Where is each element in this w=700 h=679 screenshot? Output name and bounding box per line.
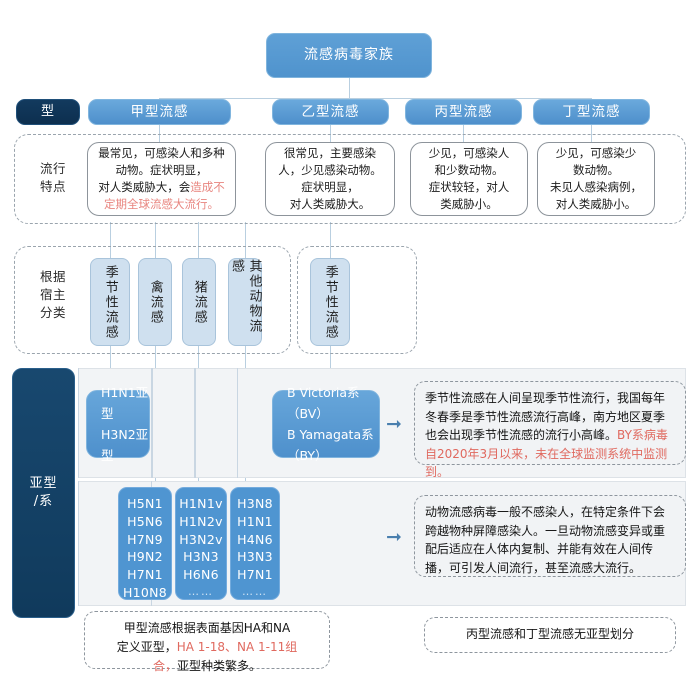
type-node-influenza-c-label: 丙型流感 xyxy=(435,104,493,121)
host-box-seasonal-b-label: 季节性流感 xyxy=(321,265,339,340)
avian-item-3: H9N2 xyxy=(119,548,171,566)
other-item-1: H1N1 xyxy=(231,513,279,531)
host-box-avian[interactable]: 禽流感 xyxy=(138,258,172,346)
row-label-host: 根据 宿主 分类 xyxy=(24,268,82,322)
feature-card-influenza-a: 最常见，可感染人和多种 动物。症状明显， 对人类威胁大，会造成不 定期全球流感大… xyxy=(87,142,236,216)
feature-a-line2: 动物。症状明显， xyxy=(98,162,225,179)
callout-animal: 动物流感病毒一般不感染人，在特定条件下会跨越物种屏障感染人。一旦动物流感变异或重… xyxy=(414,495,686,577)
other-item-0: H3N8 xyxy=(231,495,279,513)
swine-item-2: H3N2v xyxy=(176,531,226,549)
type-node-influenza-a-label: 甲型流感 xyxy=(131,104,189,121)
right-arrow-icon-seasonal: ➞ xyxy=(386,415,402,434)
host-box-other-animal-label: 其他动物流感 xyxy=(227,259,262,345)
note-no-subtype-text: 丙型流感和丁型流感无亚型划分 xyxy=(466,625,634,644)
feature-b-line4: 对人类威胁大。 xyxy=(278,196,382,213)
callout-seasonal: 季节性流感在人间呈现季节性流行，我国每年冬春季是季节性流感流行高峰，南方地区夏季… xyxy=(414,381,686,465)
type-node-influenza-d-label: 丁型流感 xyxy=(563,104,621,121)
subtype-b-lineage-line2: B Yamagata系 （BY） xyxy=(287,424,379,467)
row-label-host-line3: 分类 xyxy=(24,304,82,322)
host-box-swine-label: 猪流感 xyxy=(190,280,208,325)
row-label-subtype-line1: 亚型 xyxy=(29,475,57,493)
host-box-seasonal-label: 季节性流感 xyxy=(101,265,119,340)
feature-d-line2: 数动物。 xyxy=(550,162,642,179)
feature-c-line4: 类威胁小。 xyxy=(429,196,510,213)
avian-item-4: H7N1 xyxy=(119,566,171,584)
feature-a-line3: 对人类威胁大，会造成不 xyxy=(98,179,225,196)
feature-c-line3: 症状较轻，对人 xyxy=(429,179,510,196)
lane-avian-upper xyxy=(152,368,195,478)
callout-animal-text: 动物流感病毒一般不感染人，在特定条件下会跨越物种屏障感染人。一旦动物流感变异或重… xyxy=(425,505,665,575)
host-box-avian-label: 禽流感 xyxy=(146,280,164,325)
row-label-features: 流行 特点 xyxy=(24,160,82,196)
feature-card-influenza-d: 少见，可感染少 数动物。 未见人感染病例， 对人类威胁小。 xyxy=(537,142,655,216)
swine-item-4: H6N6 xyxy=(176,566,226,584)
host-box-seasonal[interactable]: 季节性流感 xyxy=(90,258,130,346)
subtype-b-lineage-line1: B Victoria系 （BV） xyxy=(287,382,379,425)
subtype-box-other-animal[interactable]: H3N8 H1N1 H4N6 H3N3 H7N1 …… xyxy=(230,487,280,600)
lane-swine-upper xyxy=(195,368,238,478)
avian-item-0: H5N1 xyxy=(119,495,171,513)
row-label-features-line2: 特点 xyxy=(24,178,82,196)
type-node-influenza-b-label: 乙型流感 xyxy=(302,104,360,121)
connector-root-down xyxy=(349,78,350,98)
swine-item-1: H1N2v xyxy=(176,513,226,531)
swine-item-3: H3N3 xyxy=(176,548,226,566)
right-arrow-icon-animal: ➞ xyxy=(386,528,402,547)
note-ha-na-line3: 合，亚型种类繁多。 xyxy=(93,657,321,676)
other-item-4: H7N1 xyxy=(231,566,279,584)
feature-d-line1: 少见，可感染少 xyxy=(550,145,642,162)
subtype-human-seasonal-line1: H1N1亚型 xyxy=(101,382,149,425)
avian-item-1: H5N6 xyxy=(119,513,171,531)
type-node-influenza-a[interactable]: 甲型流感 xyxy=(88,99,231,125)
host-box-other-animal[interactable]: 其他动物流感 xyxy=(228,258,262,346)
feature-b-line3: 症状明显， xyxy=(278,179,382,196)
feature-c-line1: 少见，可感染人 xyxy=(429,145,510,162)
avian-item-2: H7N9 xyxy=(119,531,171,549)
note-ha-na-line2: 定义亚型，HA 1-18、NA 1-11组 xyxy=(93,638,321,657)
root-node-label: 流感病毒家族 xyxy=(304,47,394,65)
feature-b-line2: 人，少见感染动物。 xyxy=(278,162,382,179)
feature-c-line2: 和少数动物。 xyxy=(429,162,510,179)
subtype-box-b-lineages[interactable]: B Victoria系 （BV） B Yamagata系 （BY） xyxy=(272,390,380,458)
subtype-human-seasonal-line2: H3N2亚型 xyxy=(101,424,149,467)
type-node-influenza-b[interactable]: 乙型流感 xyxy=(272,99,389,125)
root-node[interactable]: 流感病毒家族 xyxy=(266,33,432,78)
feature-card-influenza-b: 很常见，主要感染 人，少见感染动物。 症状明显， 对人类威胁大。 xyxy=(265,142,395,216)
row-label-subtype: 亚型 /系 xyxy=(12,368,75,618)
subtype-box-swine[interactable]: H1N1v H1N2v H3N2v H3N3 H6N6 …… xyxy=(175,487,227,600)
row-label-type: 型 xyxy=(16,99,80,125)
subtype-box-avian[interactable]: H5N1 H5N6 H7N9 H9N2 H7N1 H10N8 …… xyxy=(118,487,172,600)
swine-item-0: H1N1v xyxy=(176,495,226,513)
type-node-influenza-c[interactable]: 丙型流感 xyxy=(405,99,522,125)
note-ha-na: 甲型流感根据表面基因HA和NA 定义亚型，HA 1-18、NA 1-11组 合，… xyxy=(84,611,330,669)
host-box-swine[interactable]: 猪流感 xyxy=(182,258,216,346)
type-node-influenza-d[interactable]: 丁型流感 xyxy=(533,99,650,125)
feature-d-line3: 未见人感染病例， xyxy=(550,179,642,196)
note-no-subtype: 丙型流感和丁型流感无亚型划分 xyxy=(424,617,676,653)
subtype-box-human-seasonal[interactable]: H1N1亚型 H3N2亚型 xyxy=(86,390,150,458)
feature-a-line1: 最常见，可感染人和多种 xyxy=(98,145,225,162)
row-label-features-line1: 流行 xyxy=(24,160,82,178)
feature-d-line4: 对人类威胁小。 xyxy=(550,196,642,213)
note-ha-na-line1: 甲型流感根据表面基因HA和NA xyxy=(93,619,321,638)
other-item-3: H3N3 xyxy=(231,548,279,566)
row-label-host-line1: 根据 xyxy=(24,268,82,286)
feature-card-influenza-c: 少见，可感染人 和少数动物。 症状较轻，对人 类威胁小。 xyxy=(410,142,528,216)
host-box-seasonal-b[interactable]: 季节性流感 xyxy=(310,258,350,346)
diagram-canvas: 流感病毒家族 型 甲型流感 乙型流感 丙型流感 丁型流感 流行 特点 最常见，可… xyxy=(0,0,700,679)
feature-b-line1: 很常见，主要感染 xyxy=(278,145,382,162)
avian-item-5: H10N8 xyxy=(119,584,171,602)
row-label-subtype-line2: /系 xyxy=(29,493,57,511)
feature-a-line4: 定期全球流感大流行。 xyxy=(98,196,225,213)
row-label-type-text: 型 xyxy=(41,104,55,120)
other-item-2: H4N6 xyxy=(231,531,279,549)
swine-ellipsis: …… xyxy=(176,584,226,600)
other-ellipsis: …… xyxy=(231,584,279,600)
row-label-host-line2: 宿主 xyxy=(24,286,82,304)
